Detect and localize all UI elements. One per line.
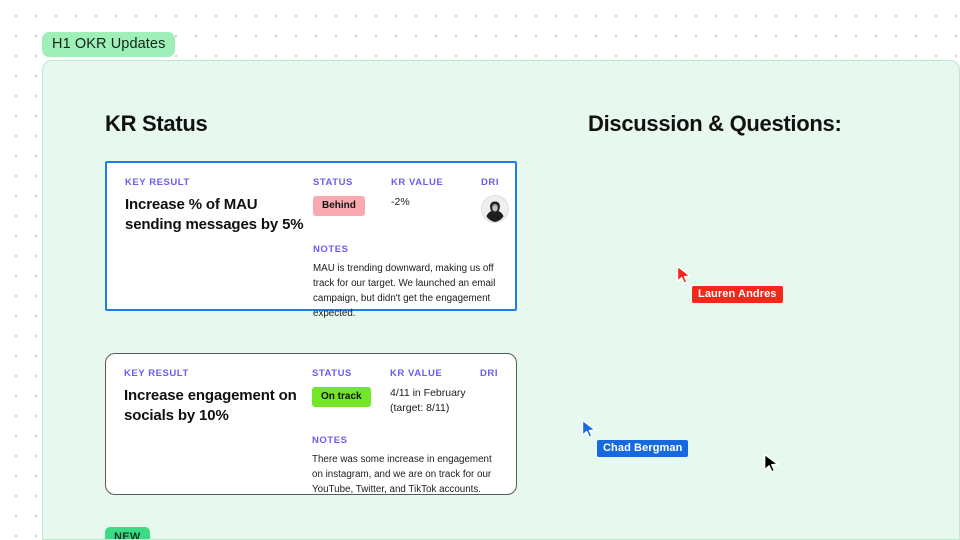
- kr-value-text: 4/11 in February (target: 8/11): [390, 386, 478, 416]
- status-badge[interactable]: On track: [312, 387, 371, 407]
- collaborator-cursor-lauren: [676, 265, 693, 285]
- kr-status-heading: KR Status: [105, 111, 207, 137]
- status-column: STATUS Behind: [313, 177, 391, 216]
- kr-value-label: KR VALUE: [390, 368, 478, 379]
- dri-label: DRI: [480, 368, 526, 379]
- notes-column: NOTES MAU is trending downward, making u…: [313, 244, 499, 322]
- notes-text: There was some increase in engagement on…: [312, 453, 498, 498]
- status-badge[interactable]: Behind: [313, 196, 365, 216]
- kr-value-column: KR VALUE -2%: [391, 177, 479, 210]
- key-result-label: KEY RESULT: [124, 368, 314, 379]
- status-label: STATUS: [313, 177, 391, 188]
- notes-text: MAU is trending downward, making us off …: [313, 262, 499, 322]
- collaborator-cursor-chad: [581, 419, 598, 439]
- dri-label: DRI: [481, 177, 527, 188]
- kr-value-column: KR VALUE 4/11 in February (target: 8/11): [390, 368, 478, 416]
- frame-title-chip[interactable]: H1 OKR Updates: [42, 32, 175, 57]
- dri-column: DRI: [480, 368, 526, 386]
- kr-card[interactable]: KEY RESULT Increase engagement on social…: [105, 353, 517, 495]
- key-result-column: KEY RESULT Increase % of MAU sending mes…: [125, 177, 315, 235]
- avatar[interactable]: [481, 195, 509, 223]
- notes-column: NOTES There was some increase in engagem…: [312, 435, 498, 498]
- kr-value-label: KR VALUE: [391, 177, 479, 188]
- status-label: STATUS: [312, 368, 390, 379]
- bottom-status-chip[interactable]: NEW: [105, 527, 150, 540]
- key-result-title: Increase % of MAU sending messages by 5%: [125, 195, 315, 235]
- mouse-pointer-icon: [763, 453, 780, 474]
- discussion-heading: Discussion & Questions:: [588, 111, 841, 137]
- key-result-column: KEY RESULT Increase engagement on social…: [124, 368, 314, 426]
- collaborator-name-chad: Chad Bergman: [597, 440, 688, 457]
- notes-label: NOTES: [312, 435, 498, 446]
- key-result-title: Increase engagement on socials by 10%: [124, 386, 314, 426]
- collaborator-name-lauren: Lauren Andres: [692, 286, 783, 303]
- dri-column: DRI: [481, 177, 527, 223]
- key-result-label: KEY RESULT: [125, 177, 315, 188]
- notes-label: NOTES: [313, 244, 499, 255]
- status-column: STATUS On track: [312, 368, 390, 407]
- figjam-canvas[interactable]: H1 OKR Updates KR Status Discussion & Qu…: [0, 0, 960, 540]
- kr-value-text: -2%: [391, 195, 479, 210]
- okr-frame[interactable]: KR Status Discussion & Questions: KEY RE…: [42, 60, 960, 540]
- kr-card[interactable]: KEY RESULT Increase % of MAU sending mes…: [105, 161, 517, 311]
